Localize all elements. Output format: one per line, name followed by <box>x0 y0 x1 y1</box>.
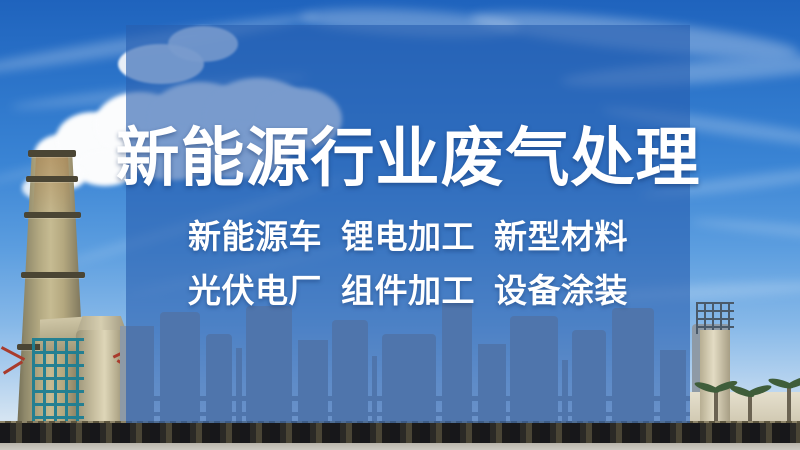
rail-cars-icon <box>0 423 800 443</box>
subtitle-item: 锂电加工 <box>341 220 475 253</box>
banner-subtitle-line-2: 光伏电厂 组件加工 设备涂装 <box>188 274 628 307</box>
subtitle-item: 光伏电厂 <box>188 274 322 307</box>
smokestack-band-icon <box>26 176 78 182</box>
smokestack-band-icon <box>21 272 85 278</box>
banner-text-block: 新能源行业废气处理 新能源车 锂电加工 新型材料 光伏电厂 组件加工 设备涂装 <box>126 25 690 423</box>
palm-tree-icon <box>787 384 791 426</box>
scaffold-icon <box>32 338 84 424</box>
subtitle-item: 新型材料 <box>494 220 628 253</box>
banner-title: 新能源行业废气处理 <box>116 126 701 190</box>
subtitle-item: 组件加工 <box>341 274 475 307</box>
promotional-banner: 新能源行业废气处理 新能源车 锂电加工 新型材料 光伏电厂 组件加工 设备涂装 <box>0 0 800 450</box>
banner-subtitle-line-1: 新能源车 锂电加工 新型材料 <box>188 220 628 253</box>
subtitle-item: 设备涂装 <box>494 274 628 307</box>
ground-strip <box>0 443 800 450</box>
smokestack-band-icon <box>24 212 81 218</box>
subtitle-item: 新能源车 <box>188 220 322 253</box>
smokestack-band-icon <box>28 150 76 157</box>
